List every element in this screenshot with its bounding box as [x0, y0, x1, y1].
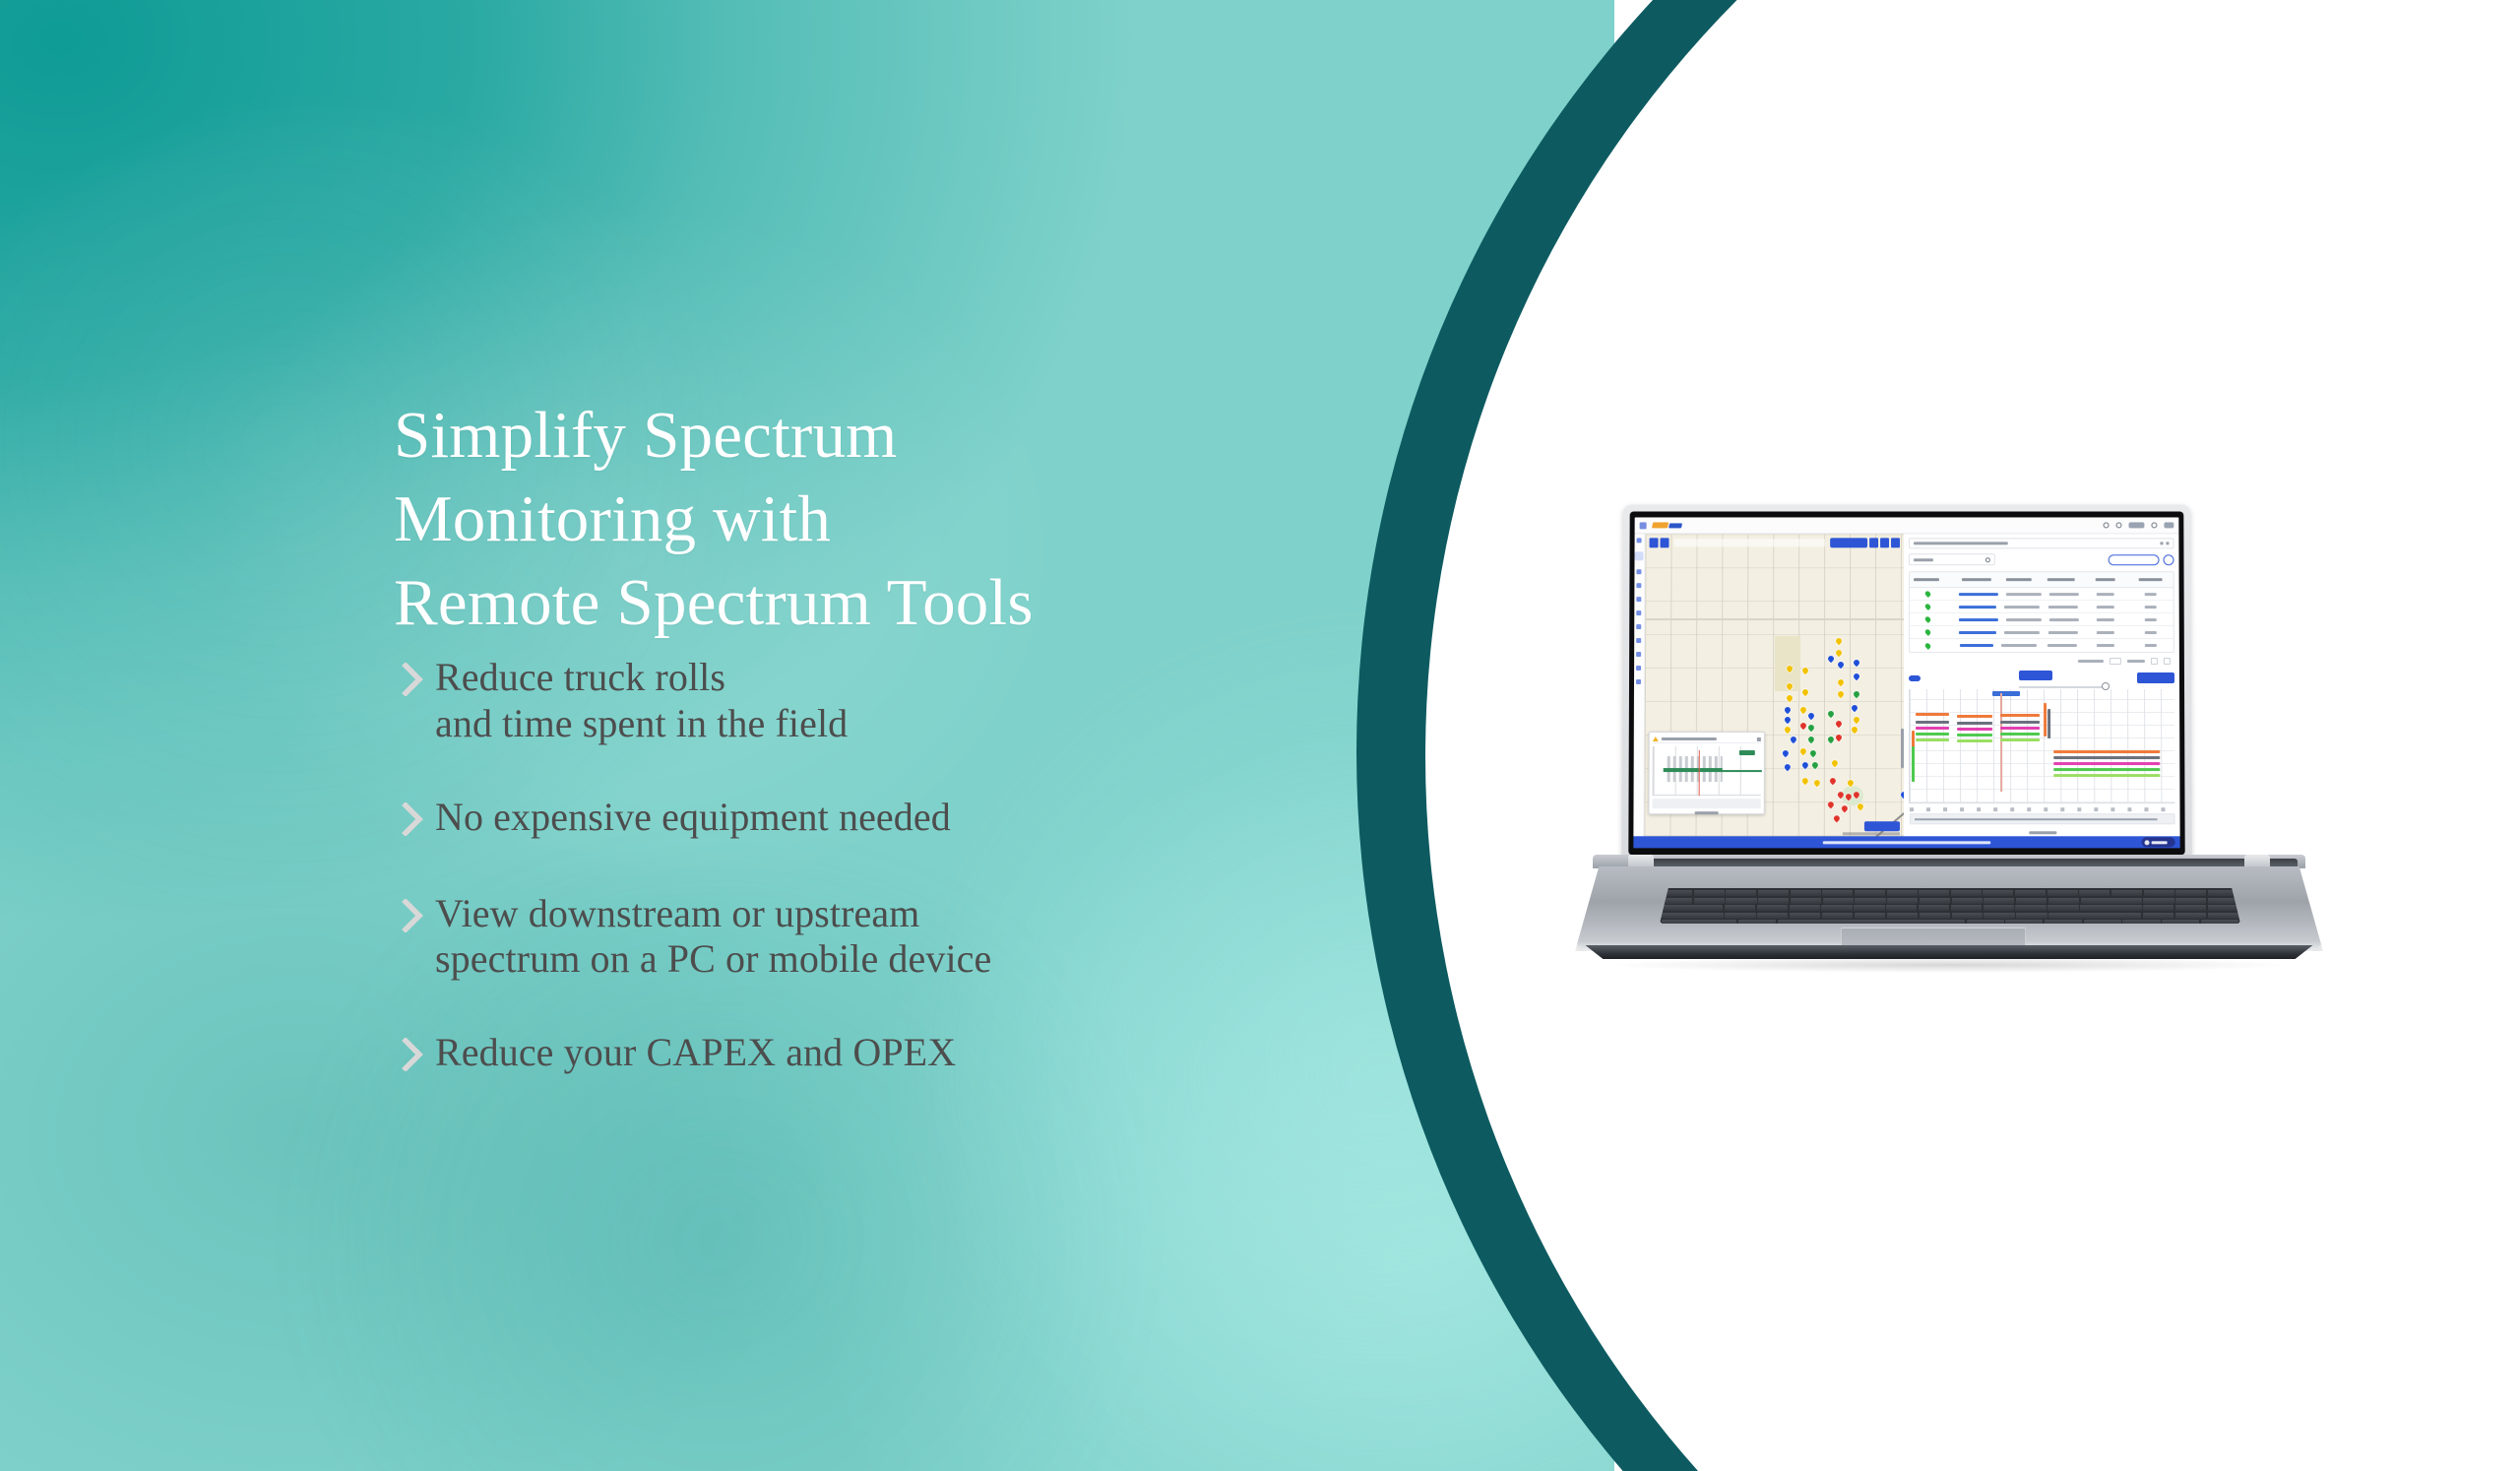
chart-trace-magenta — [1916, 727, 1949, 730]
sidebar-item-reports[interactable] — [1637, 597, 1642, 602]
column-header-status[interactable] — [1914, 578, 1939, 581]
chart-trace-lightgreen — [2000, 738, 2040, 741]
map-pin[interactable] — [1811, 762, 1817, 770]
search-input[interactable] — [1909, 553, 1995, 565]
map-pin[interactable] — [1854, 717, 1859, 725]
chart-spike — [1912, 746, 1915, 782]
bullet-1-line-2: and time spent in the field — [435, 701, 848, 747]
column-header-power[interactable] — [2139, 578, 2163, 581]
status-badge — [1924, 628, 1932, 636]
map-pin[interactable] — [1801, 762, 1807, 770]
chart-trace-green — [2000, 733, 2040, 735]
map-pin[interactable] — [1787, 683, 1793, 691]
breadcrumb-text — [1914, 542, 2008, 544]
map-view[interactable] — [1644, 534, 1904, 836]
list-item-text: No expensive equipment needed — [435, 795, 951, 841]
page-title: Simplify Spectrum Monitoring with Remote… — [394, 394, 1280, 645]
map-pin[interactable] — [1829, 778, 1835, 786]
map-pin[interactable] — [1854, 673, 1859, 681]
sidebar-item-filter[interactable] — [1637, 610, 1642, 615]
laptop-lid — [1621, 505, 2192, 864]
chart-gridlines — [1910, 689, 2174, 802]
map-pin[interactable] — [1808, 736, 1814, 744]
breadcrumb — [1909, 538, 2173, 548]
chart-trace-green — [1957, 734, 1992, 736]
map-pin[interactable] — [1790, 736, 1795, 744]
map-pin[interactable] — [1799, 748, 1805, 756]
chart-trace-lightgreen — [2053, 774, 2160, 777]
column-header-device[interactable] — [1962, 578, 1991, 581]
map-pin[interactable] — [1800, 723, 1806, 731]
rows-per-page-label — [2078, 660, 2104, 663]
column-header-node[interactable] — [2096, 578, 2115, 581]
chart-x-axis-label — [2029, 831, 2056, 834]
map-zoom-extent-button[interactable] — [1864, 821, 1900, 831]
page-range-label — [2127, 660, 2145, 663]
details-pane — [1904, 534, 2180, 836]
chart-trace-green — [1916, 733, 1949, 735]
table-row[interactable] — [1910, 626, 2173, 639]
chart-legend-tag — [1738, 750, 1754, 755]
chart-range-trace — [1915, 818, 2157, 820]
list-item: No expensive equipment needed — [402, 795, 1386, 844]
warning-triangle-icon — [1652, 736, 1658, 741]
prev-page-button[interactable] — [2151, 658, 2158, 665]
popup-spectrum-chart — [1652, 746, 1760, 796]
map-pin[interactable] — [1848, 780, 1854, 788]
map-download-button[interactable] — [1880, 538, 1889, 547]
close-icon[interactable] — [2160, 542, 2163, 544]
sidebar-item-alarms[interactable] — [1637, 583, 1642, 588]
app-logo — [1653, 522, 1682, 528]
laptop-base — [1575, 855, 2323, 965]
map-pin[interactable] — [1831, 760, 1837, 768]
map-pin[interactable] — [1813, 780, 1819, 788]
spectrum-chart — [1909, 689, 2174, 803]
sidebar-item-map[interactable] — [1635, 551, 1644, 560]
map-pin[interactable] — [1836, 638, 1842, 646]
map-pin[interactable] — [1836, 650, 1842, 658]
chart-trace-lightgreen — [1957, 739, 1992, 742]
chart-trace-magenta — [1957, 728, 1992, 731]
app-header-actions — [2104, 522, 2174, 528]
chart-trace-orange — [2000, 714, 2040, 717]
laptop-screen — [1633, 517, 2179, 848]
settings-gear-icon[interactable] — [2164, 554, 2174, 565]
sidebar-item-nodes[interactable] — [1636, 652, 1641, 657]
laptop-hinge-bar — [1593, 855, 2305, 868]
status-badge — [1924, 615, 1932, 623]
chart-trace-orange — [2053, 750, 2160, 753]
status-badge — [1924, 603, 1932, 610]
app-body — [1633, 534, 2179, 836]
chart-controls — [1909, 672, 2174, 683]
list-item-text: Reduce your CAPEX and OPEX — [435, 1030, 956, 1076]
app-header — [1635, 517, 2179, 534]
sidebar-item-help[interactable] — [1636, 679, 1641, 684]
chart-trace-orange — [1957, 715, 1992, 718]
map-pin[interactable] — [1802, 689, 1808, 697]
table-row[interactable] — [1910, 613, 2173, 626]
help-icon — [2145, 840, 2150, 845]
map-pin[interactable] — [1836, 735, 1842, 742]
column-header-problem[interactable] — [2047, 578, 2075, 581]
chart-trace-gray — [1916, 721, 1949, 724]
map-pin[interactable] — [1787, 666, 1793, 673]
table-pagination — [1909, 658, 2174, 665]
map-pin[interactable] — [1801, 778, 1807, 786]
add-filter-button[interactable] — [2109, 554, 2160, 565]
map-zoom-button[interactable] — [1660, 538, 1669, 547]
user-avatar-icon[interactable] — [2115, 522, 2121, 528]
map-pin[interactable] — [1808, 725, 1814, 733]
map-pin[interactable] — [1785, 727, 1791, 735]
table-row[interactable] — [1910, 639, 2173, 652]
map-pin[interactable] — [1828, 736, 1834, 744]
map-fullscreen-button[interactable] — [1891, 538, 1900, 547]
bullet-4-line-1: Reduce your CAPEX and OPEX — [435, 1030, 956, 1076]
map-pin[interactable] — [1852, 705, 1858, 713]
laptop-deck — [1575, 866, 2323, 951]
map-pin[interactable] — [1838, 662, 1844, 670]
chevron-right-icon — [402, 797, 435, 844]
laptop-keyboard[interactable] — [1660, 888, 2240, 924]
map-pin[interactable] — [1785, 717, 1791, 725]
settings-label[interactable] — [2164, 522, 2173, 528]
chart-trace-magenta — [2000, 727, 2040, 730]
map-pin[interactable] — [1800, 707, 1806, 715]
chart-filter-button[interactable] — [2137, 672, 2174, 683]
list-item-text: Reduce truck rolls and time spent in the… — [435, 655, 848, 747]
map-pin[interactable] — [1841, 805, 1847, 813]
chart-toggle-switch[interactable] — [1909, 675, 1921, 681]
help-label — [2152, 841, 2168, 844]
sidebar-item-dashboard[interactable] — [1637, 538, 1642, 543]
laptop-shadow — [1605, 957, 2294, 973]
screen-bezel — [1628, 511, 2184, 855]
refresh-icon[interactable] — [2151, 522, 2157, 528]
search-placeholder — [1914, 558, 1933, 561]
sidebar-item-analytics[interactable] — [1637, 624, 1642, 629]
status-badge — [1924, 590, 1932, 598]
promo-slide: Simplify Spectrum Monitoring with Remote… — [0, 0, 2520, 1471]
map-pin[interactable] — [1782, 750, 1788, 758]
map-filter-button[interactable] — [1869, 538, 1878, 547]
map-pin[interactable] — [1838, 691, 1844, 699]
map-pin[interactable] — [1809, 750, 1815, 758]
table-row[interactable] — [1910, 601, 2173, 613]
bullet-3-line-2: spectrum on a PC or mobile device — [435, 936, 991, 983]
list-item-text: View downstream or upstream spectrum on … — [435, 891, 991, 984]
sidebar-item-spectrum[interactable] — [1636, 638, 1641, 643]
search-icon[interactable] — [2166, 542, 2169, 544]
map-search-input[interactable] — [1673, 539, 1825, 546]
chart-marker-line — [1698, 750, 1700, 796]
headline-line-2: Monitoring with — [394, 478, 1280, 561]
device-table — [1909, 571, 2174, 653]
chart-trace-orange — [1916, 713, 1949, 716]
map-pin[interactable] — [1852, 727, 1858, 735]
chevron-right-icon — [402, 657, 435, 704]
menu-icon[interactable] — [1640, 522, 1647, 529]
popup-title — [1661, 737, 1716, 740]
list-item: View downstream or upstream spectrum on … — [402, 891, 1386, 984]
map-pin[interactable] — [1833, 815, 1839, 823]
chart-tooltip-badge — [2019, 671, 2052, 680]
map-pin[interactable] — [1836, 721, 1842, 729]
help-circle-icon[interactable] — [2104, 522, 2110, 528]
next-page-button[interactable] — [2164, 658, 2171, 665]
chart-marker-label — [1992, 691, 2020, 696]
chart-trace-green — [1663, 770, 1761, 772]
map-action-button[interactable] — [1830, 538, 1867, 547]
map-pin[interactable] — [1854, 660, 1859, 668]
table-toolbar — [1909, 553, 2174, 565]
column-header-type[interactable] — [2006, 578, 2032, 581]
benefits-list: Reduce truck rolls and time spent in the… — [402, 655, 1386, 1079]
list-item: Reduce your CAPEX and OPEX — [402, 1030, 1386, 1079]
chart-x-axis-ticks — [1910, 807, 2175, 811]
chart-trace-gray — [2000, 721, 2040, 724]
chart-trace-gray — [1957, 722, 1992, 725]
map-pin[interactable] — [1808, 713, 1814, 721]
chart-trace-lightgreen — [1916, 738, 1949, 741]
chart-trace-magenta — [2053, 762, 2160, 765]
chart-spike — [2044, 703, 2047, 736]
map-pin[interactable] — [1837, 792, 1843, 799]
table-header-row — [1910, 572, 2173, 588]
map-pin[interactable] — [1845, 794, 1851, 801]
map-pin[interactable] — [1802, 668, 1808, 675]
map-attribution — [1843, 832, 1900, 835]
spectrum-alert-popup[interactable] — [1648, 732, 1764, 814]
chart-trace-gray — [2053, 756, 2160, 759]
headline-line-3: Remote Spectrum Tools — [394, 561, 1280, 645]
app-footer — [1633, 836, 2179, 848]
chart-y-axis-label — [1901, 729, 1904, 768]
map-pin[interactable] — [1787, 695, 1793, 703]
table-toolbar-actions — [2109, 554, 2174, 565]
bullet-1-line-1: Reduce truck rolls — [435, 655, 848, 701]
chart-range-navigator[interactable] — [1910, 813, 2175, 824]
map-pin[interactable] — [1857, 803, 1862, 811]
popup-axis-label — [1694, 811, 1718, 814]
map-pin[interactable] — [1784, 764, 1790, 772]
map-pin[interactable] — [1854, 792, 1859, 799]
map-pin[interactable] — [1785, 707, 1791, 715]
sidebar-item-settings[interactable] — [1636, 666, 1641, 671]
popup-header — [1652, 735, 1760, 743]
copyright-text — [1823, 841, 1990, 844]
breadcrumb-actions — [2160, 542, 2169, 544]
bullet-2-line-1: No expensive equipment needed — [435, 795, 951, 841]
bullet-3-line-1: View downstream or upstream — [435, 891, 991, 937]
map-toolbar — [1649, 537, 1900, 547]
table-row[interactable] — [1910, 588, 2173, 601]
search-icon — [1985, 557, 1990, 562]
chevron-right-icon — [402, 1032, 435, 1079]
account-label[interactable] — [2128, 522, 2144, 528]
help-button[interactable] — [2142, 837, 2175, 847]
sidebar-item-devices[interactable] — [1637, 569, 1642, 574]
chart-slider-track[interactable] — [2019, 686, 2104, 688]
map-pin[interactable] — [1828, 711, 1834, 719]
map-layers-button[interactable] — [1649, 538, 1658, 547]
close-icon[interactable] — [1756, 737, 1760, 741]
headline-line-1: Simplify Spectrum — [394, 394, 1280, 478]
status-badge — [1924, 642, 1932, 650]
chart-marker-line — [2000, 693, 2002, 792]
map-pin[interactable] — [1827, 801, 1833, 809]
chart-spike — [2047, 709, 2050, 738]
map-pin[interactable] — [1838, 679, 1844, 687]
popup-range-selector[interactable] — [1652, 799, 1760, 808]
chart-trace-green — [2053, 768, 2160, 771]
chevron-right-icon — [402, 893, 435, 940]
map-main-road — [1645, 618, 1904, 620]
rows-per-page-select[interactable] — [2110, 658, 2121, 665]
list-item: Reduce truck rolls and time spent in the… — [402, 655, 1386, 747]
map-pin[interactable] — [1854, 691, 1859, 699]
map-pin[interactable] — [1828, 656, 1834, 664]
laptop-device — [1575, 492, 2323, 650]
